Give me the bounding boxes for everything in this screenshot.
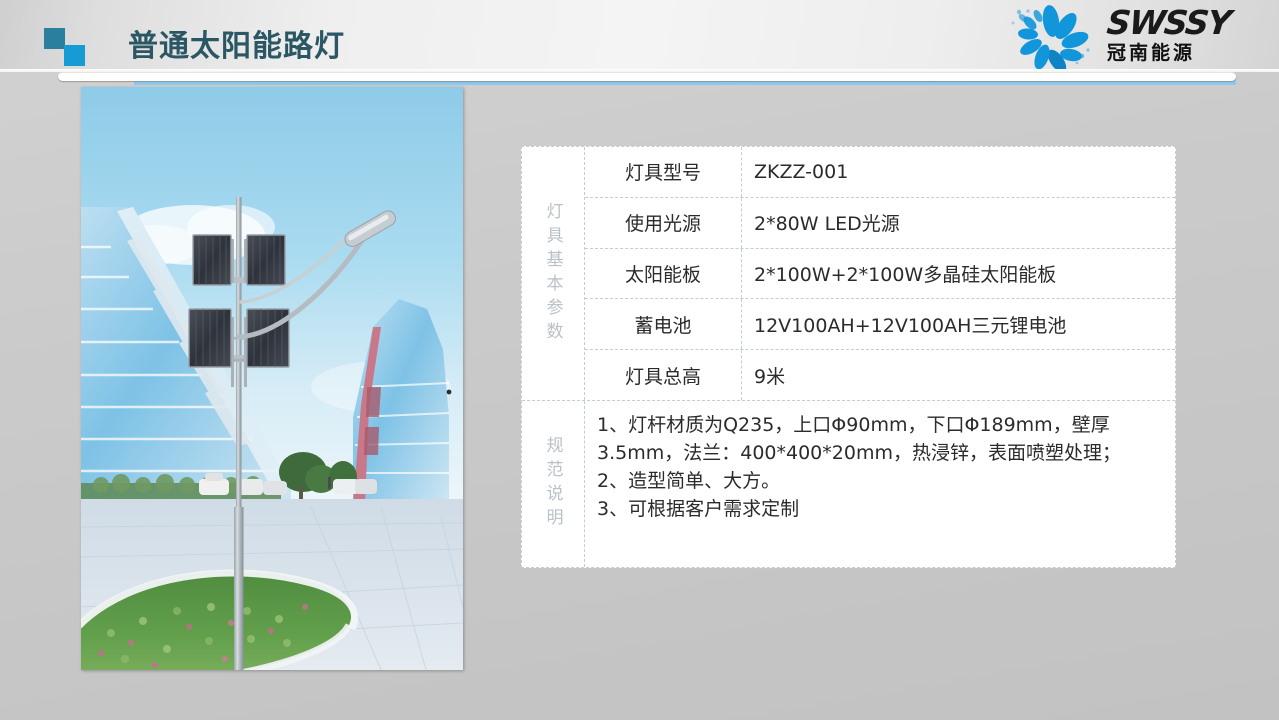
row-key: 灯具总高	[585, 350, 742, 400]
table-row: 蓄电池 12V100AH+12V100AH三元锂电池	[585, 299, 1175, 350]
table-row: 使用光源 2*80W LED光源	[585, 198, 1175, 249]
decorative-squares-icon	[44, 28, 88, 66]
square-light-icon	[64, 45, 85, 66]
logo-text-block: SWSSY 冠南能源	[1107, 6, 1261, 65]
spec-rows: 灯具型号 ZKZZ-001 使用光源 2*80W LED光源 太阳能板 2*10…	[585, 147, 1175, 400]
logo-chinese-name: 冠南能源	[1107, 41, 1261, 65]
spec-table-notes-section: 规范说明 1、灯杆材质为Q235，上口Φ90mm，下口Φ189mm，壁厚3.5m…	[522, 401, 1175, 567]
row-key: 太阳能板	[585, 249, 742, 299]
header-divider	[58, 72, 1236, 86]
row-value: 9米	[742, 350, 1175, 400]
spec-notes-text: 1、灯杆材质为Q235，上口Φ90mm，下口Φ189mm，壁厚3.5mm，法兰：…	[585, 401, 1175, 567]
group-label-basic: 灯具基本参数	[522, 147, 585, 400]
row-key: 使用光源	[585, 198, 742, 248]
product-photo	[81, 87, 463, 670]
divider-white-bar	[58, 72, 1236, 81]
table-row: 灯具型号 ZKZZ-001	[585, 147, 1175, 198]
row-value: ZKZZ-001	[742, 147, 1175, 197]
row-value: 12V100AH+12V100AH三元锂电池	[742, 299, 1175, 349]
page-title: 普通太阳能路灯	[128, 21, 345, 65]
table-row: 灯具总高 9米	[585, 350, 1175, 400]
table-row: 太阳能板 2*100W+2*100W多晶硅太阳能板	[585, 249, 1175, 300]
petal-circle-logo-icon	[1003, 4, 1099, 70]
group-label-notes: 规范说明	[522, 401, 585, 567]
row-key: 蓄电池	[585, 299, 742, 349]
spec-table-basic-section: 灯具基本参数 灯具型号 ZKZZ-001 使用光源 2*80W LED光源 太阳…	[522, 147, 1175, 401]
group-label-notes-text: 规范说明	[541, 436, 566, 532]
spec-table: 灯具基本参数 灯具型号 ZKZZ-001 使用光源 2*80W LED光源 太阳…	[521, 146, 1176, 568]
brand-logo: SWSSY 冠南能源	[1003, 4, 1261, 70]
square-dark-icon	[44, 28, 65, 49]
solar-street-light-photo-svg	[81, 87, 463, 670]
logo-wordmark: SWSSY	[1105, 6, 1263, 40]
page-header: 普通太阳能路灯	[0, 0, 1279, 72]
row-key: 灯具型号	[585, 147, 742, 197]
row-value: 2*80W LED光源	[742, 198, 1175, 248]
row-value: 2*100W+2*100W多晶硅太阳能板	[742, 249, 1175, 299]
group-label-basic-text: 灯具基本参数	[541, 202, 566, 346]
